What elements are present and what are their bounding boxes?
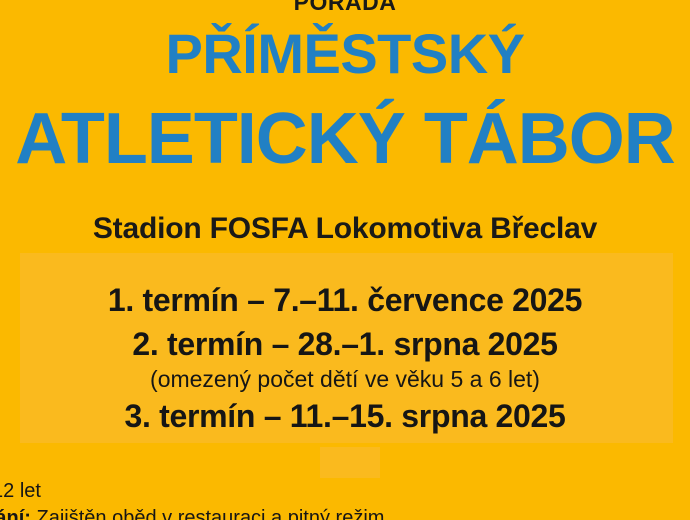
detail-catering-label: Stravování: <box>0 507 31 520</box>
detail-catering-value: Zajištěn oběd v restauraci a pitný režim <box>37 507 385 520</box>
term-capacity-note: (omezený počet dětí ve věku 5 a 6 let) <box>0 368 690 391</box>
poster-content: POŘÁDÁ PŘÍMĚSTSKÝ ATLETICKÝ TÁBOR Stadio… <box>0 0 690 520</box>
term-item-2: 2. termín – 28.–1. srpna 2025 <box>0 328 690 360</box>
term-item-3: 3. termín – 11.–15. srpna 2025 <box>0 400 690 432</box>
detail-catering: Stravování: Zajištěn oběd v restauraci a… <box>0 508 384 520</box>
page-title-line-1: PŘÍMĚSTSKÝ <box>0 26 690 82</box>
detail-age-value: 7–12 let <box>0 480 41 502</box>
term-item-1: 1. termín – 7.–11. července 2025 <box>0 284 690 316</box>
poster-canvas: POŘÁDÁ PŘÍMĚSTSKÝ ATLETICKÝ TÁBOR Stadio… <box>0 0 690 520</box>
detail-age: Věk: 7–12 let <box>0 481 41 501</box>
organizer-label: POŘÁDÁ <box>0 0 690 14</box>
venue-name: Stadion FOSFA Lokomotiva Břeclav <box>0 214 690 244</box>
page-title-line-2: ATLETICKÝ TÁBOR <box>0 103 690 175</box>
